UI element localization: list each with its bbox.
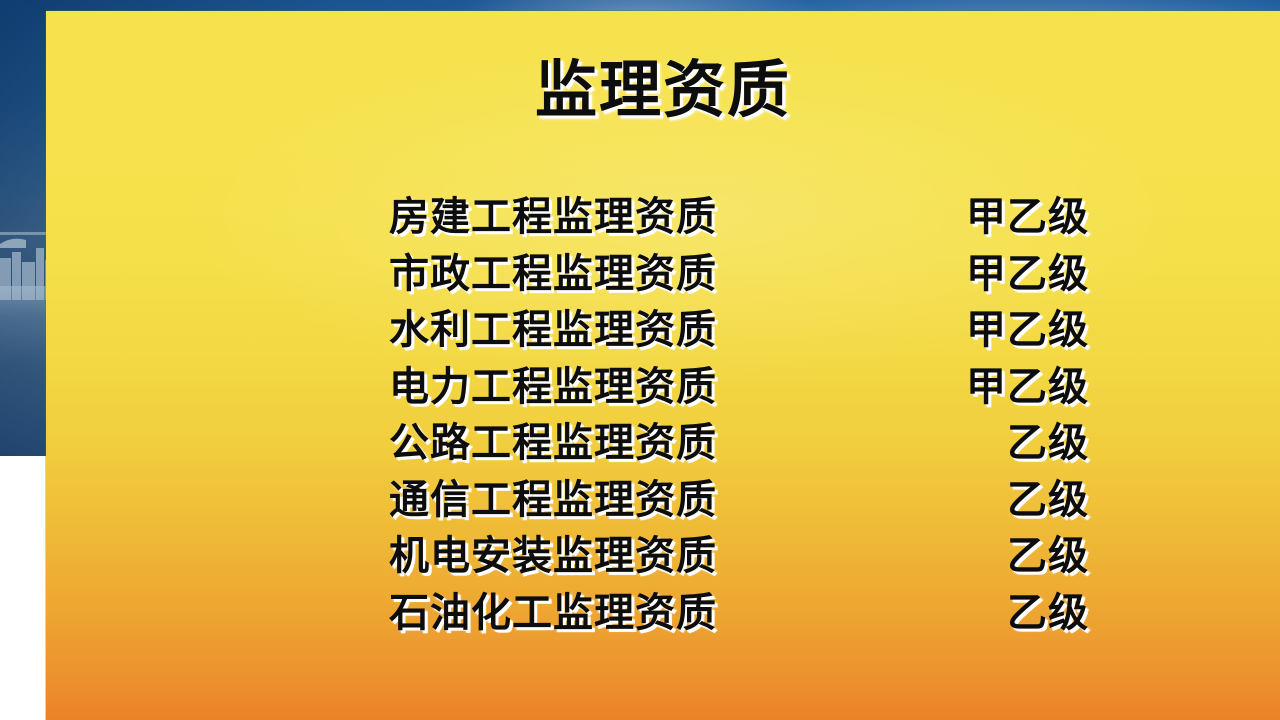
table-row: 通信工程监理资质 乙级 — [389, 472, 1089, 529]
qualification-name: 水利工程监理资质 — [389, 302, 717, 359]
qualification-name: 机电安装监理资质 — [389, 528, 717, 585]
table-row: 水利工程监理资质 甲乙级 — [389, 302, 1089, 359]
table-row: 石油化工监理资质 乙级 — [389, 585, 1089, 642]
content-panel: 监理资质 房建工程监理资质 甲乙级 市政工程监理资质 甲乙级 水利工程监理资质 … — [46, 11, 1280, 720]
qualification-grade: 乙级 — [939, 528, 1089, 585]
qualification-grade: 乙级 — [939, 415, 1089, 472]
table-row: 公路工程监理资质 乙级 — [389, 415, 1089, 472]
qualification-name: 房建工程监理资质 — [389, 189, 717, 246]
qualification-grade: 甲乙级 — [939, 359, 1089, 416]
qualification-grade: 甲乙级 — [939, 302, 1089, 359]
qualification-name: 石油化工监理资质 — [389, 585, 717, 642]
qualification-grade: 乙级 — [939, 585, 1089, 642]
qualification-list: 房建工程监理资质 甲乙级 市政工程监理资质 甲乙级 水利工程监理资质 甲乙级 电… — [389, 189, 1089, 641]
table-row: 机电安装监理资质 乙级 — [389, 528, 1089, 585]
qualification-name: 公路工程监理资质 — [389, 415, 717, 472]
qualification-name: 通信工程监理资质 — [389, 472, 717, 529]
presentation-slide: 监理资质 房建工程监理资质 甲乙级 市政工程监理资质 甲乙级 水利工程监理资质 … — [0, 0, 1280, 720]
qualification-name: 市政工程监理资质 — [389, 246, 717, 303]
qualification-grade: 甲乙级 — [939, 246, 1089, 303]
table-row: 房建工程监理资质 甲乙级 — [389, 189, 1089, 246]
page-title: 监理资质 — [46, 59, 1280, 121]
qualification-grade: 乙级 — [939, 472, 1089, 529]
table-row: 市政工程监理资质 甲乙级 — [389, 246, 1089, 303]
table-row: 电力工程监理资质 甲乙级 — [389, 359, 1089, 416]
qualification-name: 电力工程监理资质 — [389, 359, 717, 416]
qualification-grade: 甲乙级 — [939, 189, 1089, 246]
